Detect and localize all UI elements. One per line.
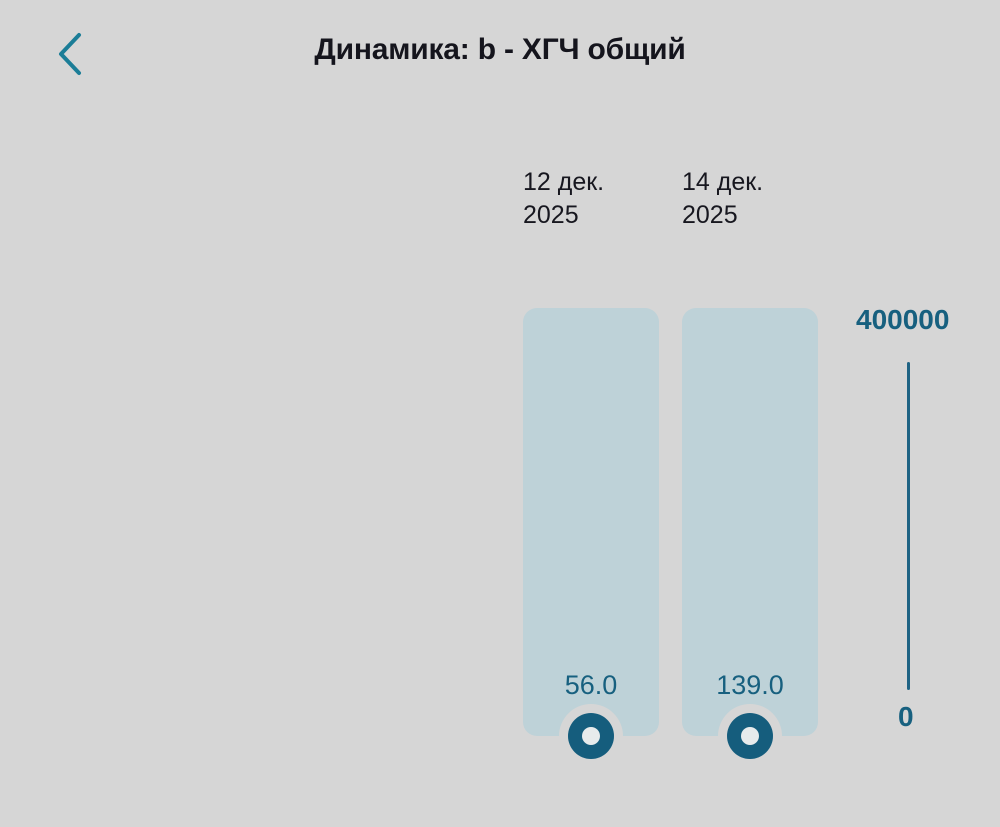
bar-value-label-0: 56.0 <box>523 670 659 701</box>
y-axis-min-label: 0 <box>898 701 914 733</box>
bar-value-label-1: 139.0 <box>682 670 818 701</box>
y-axis: 400000 0 <box>840 290 1000 760</box>
y-axis-max-label: 400000 <box>856 304 949 336</box>
y-axis-line <box>907 362 910 690</box>
data-point-marker-1[interactable] <box>727 713 773 759</box>
x-axis-label-1: 14 дек. 2025 <box>682 166 763 232</box>
x-axis-label-0: 12 дек. 2025 <box>523 166 604 232</box>
bar-chart: 12 дек. 2025 14 дек. 2025 56.0 139.0 400… <box>0 0 1000 827</box>
data-point-marker-0[interactable] <box>568 713 614 759</box>
